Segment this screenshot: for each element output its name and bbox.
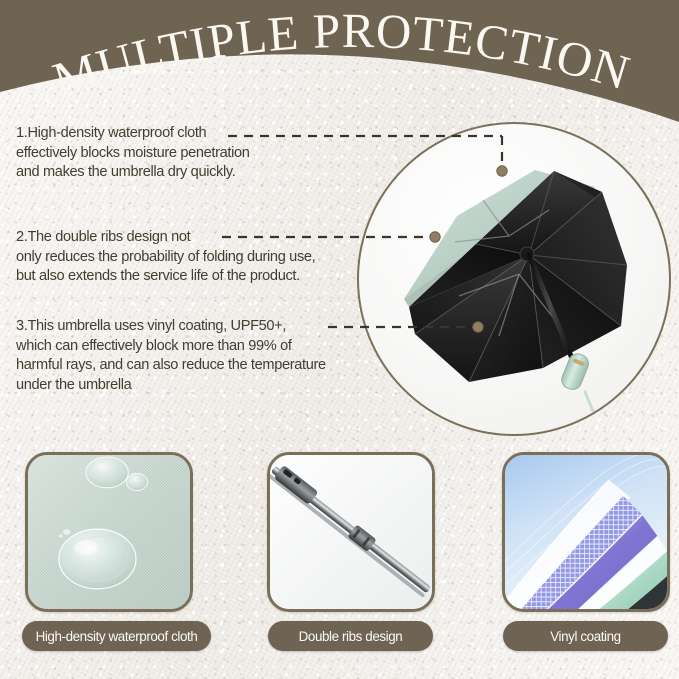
feature-card-row: High-density waterproof cloth (0, 452, 679, 662)
umbrella-handle (559, 351, 591, 392)
layered-coating-cross-section-image (505, 455, 667, 609)
feature-text-vinyl-coating: 3.This umbrella uses vinyl coating, UPF5… (16, 317, 378, 395)
feature-text-waterproof-cloth: 1.High-density waterproof cloth effectiv… (16, 124, 378, 183)
umbrella-rib-shaft-closeup-image (270, 455, 432, 609)
header-title-svg: MULTIPLE PROTECTION (0, 0, 679, 130)
feature-text-double-ribs: 2.The double ribs design not only reduce… (16, 228, 378, 287)
feature-card-double-ribs[interactable]: Double ribs design (258, 452, 449, 651)
feature-card-waterproof-cloth[interactable]: High-density waterproof cloth (22, 452, 213, 651)
card-label-vinyl-coating: Vinyl coating (503, 621, 668, 651)
umbrella-illustration (359, 124, 671, 436)
product-photo-circle (357, 122, 671, 436)
water-droplets-on-fabric-image (28, 455, 190, 609)
umbrella-wrist-strap (585, 392, 595, 416)
feature-card-vinyl-coating[interactable]: Vinyl coating (493, 452, 679, 651)
header-banner: MULTIPLE PROTECTION (0, 0, 679, 130)
infographic-root: MULTIPLE PROTECTION 1.High-density water… (0, 0, 679, 679)
card-label-double-ribs: Double ribs design (268, 621, 433, 651)
thumbnail-vinyl-coating[interactable] (502, 452, 670, 612)
thumbnail-waterproof-cloth[interactable] (25, 452, 193, 612)
thumbnail-double-ribs[interactable] (267, 452, 435, 612)
card-label-waterproof-cloth: High-density waterproof cloth (22, 621, 211, 651)
page-title: MULTIPLE PROTECTION (47, 3, 637, 108)
